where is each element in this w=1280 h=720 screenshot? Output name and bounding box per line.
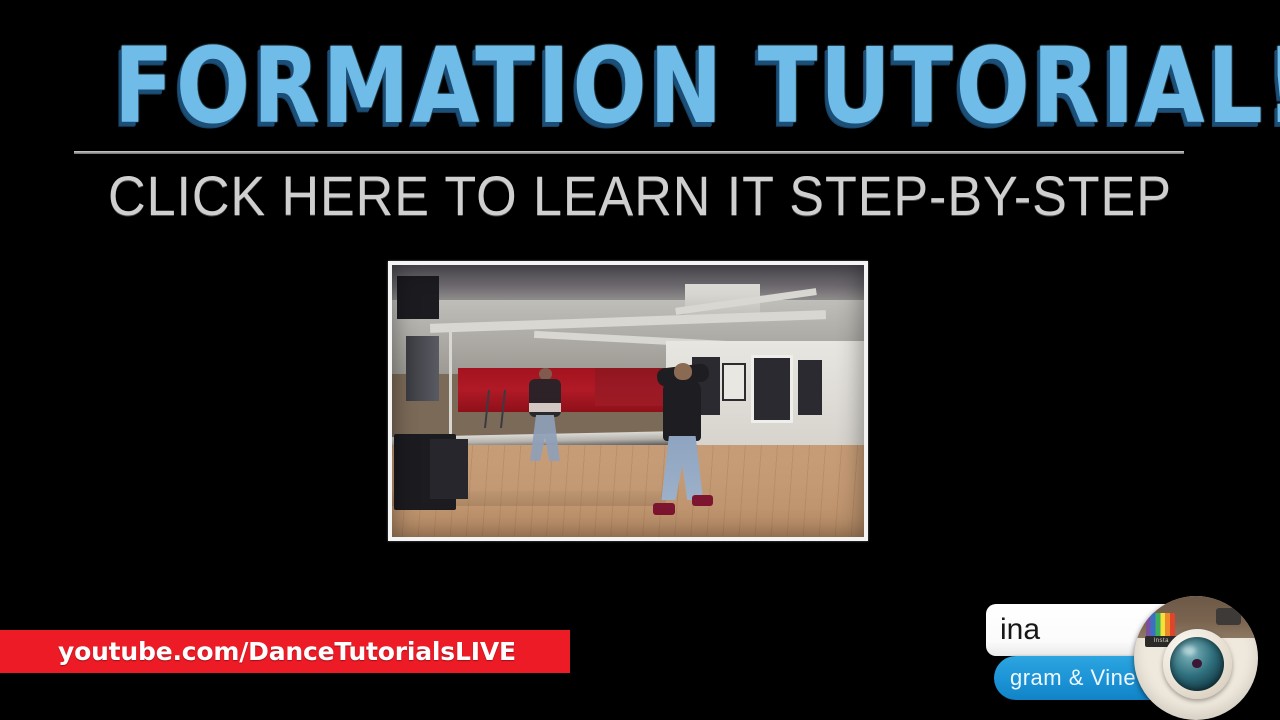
instagram-icon-viewfinder	[1216, 608, 1241, 624]
studio-speaker	[397, 276, 439, 320]
page-title: FORMATION TUTORIAL!	[114, 34, 1280, 138]
dancer-shoe-left	[653, 503, 675, 515]
instagram-camera-icon[interactable]: Insta	[1134, 596, 1258, 720]
subtitle-block: CLICK HERE TO LEARN IT STEP-BY-STEP	[0, 168, 1280, 224]
youtube-channel-url: youtube.com/DanceTutorialsLIVE	[58, 637, 516, 666]
dancer-reflection-belt	[529, 403, 560, 411]
dancer-head	[674, 363, 692, 380]
instagram-icon-rainbow-stripe	[1146, 613, 1175, 638]
instagram-handle-text: ina	[1000, 613, 1040, 647]
video-end-card: FORMATION TUTORIAL! CLICK HERE TO LEARN …	[0, 0, 1280, 720]
dancer-shoe-right	[692, 495, 713, 506]
video-thumbnail-card[interactable]	[388, 261, 868, 541]
divider	[74, 151, 1184, 154]
studio-pole	[449, 325, 452, 434]
title-block: FORMATION TUTORIAL!	[0, 34, 1280, 138]
camera-tripod	[484, 390, 506, 428]
instagram-icon-plate-label: Insta	[1154, 638, 1170, 644]
dancer-legs	[661, 436, 703, 500]
youtube-channel-banner[interactable]: youtube.com/DanceTutorialsLIVE	[0, 630, 570, 673]
dancer-torso	[663, 380, 701, 441]
instagram-social-pill-label: gram & Vine	[1010, 665, 1136, 691]
studio-door	[751, 355, 793, 423]
studio-speaker	[430, 439, 468, 499]
instagram-icon-lens-ring	[1163, 629, 1232, 698]
instagram-overlay[interactable]: ina gram & Vine Insta	[986, 596, 1280, 720]
call-to-action-text: CLICK HERE TO LEARN IT STEP-BY-STEP	[108, 168, 1172, 224]
instagram-icon-lens-center	[1192, 659, 1202, 669]
video-thumbnail-image	[392, 265, 864, 537]
instagram-icon-lens	[1170, 637, 1224, 691]
dancer-reflection	[524, 368, 566, 460]
dancer-reflection-legs	[530, 415, 560, 461]
dancer-figure	[652, 363, 713, 515]
instagram-icon-lens-glint	[1182, 646, 1196, 656]
studio-equipment-stand	[406, 336, 439, 401]
studio-door	[798, 360, 822, 414]
studio-window	[722, 363, 746, 401]
